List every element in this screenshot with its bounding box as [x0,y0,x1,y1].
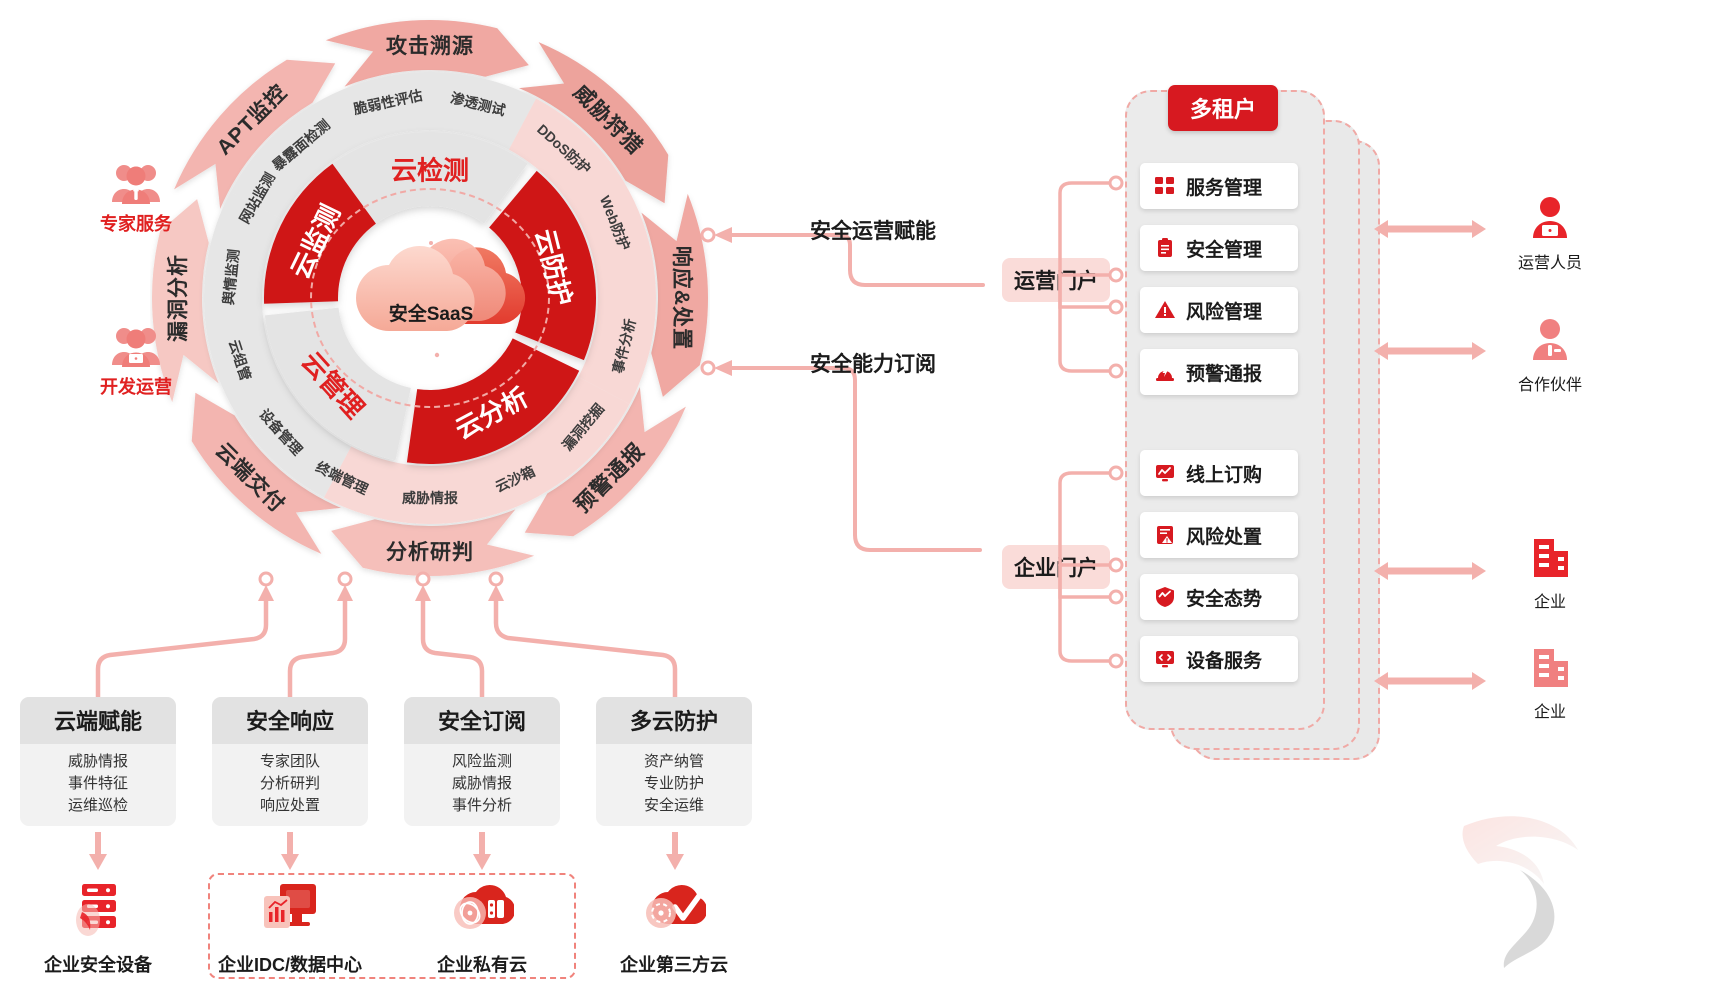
bottom-card-title: 多云防护 [596,697,752,744]
service-item-risk-mgmt[interactable]: 风险管理 [1140,287,1298,333]
grid-icon [1154,175,1176,197]
left-actor-devops: 开发运营 [76,325,196,399]
service-item-label: 预警通报 [1186,359,1262,386]
right-actor-label: 运营人员 [1495,249,1605,273]
arrow-partner [1372,340,1490,362]
cloud-center-label: 安全SaaS [331,299,531,326]
service-item-device-service[interactable]: 设备服务 [1140,636,1298,682]
service-item-label: 安全管理 [1186,235,1262,262]
endpoint-private-cloud: 企业私有云 [397,880,567,977]
arrow-enterprise-1 [1372,560,1490,582]
left-actor-expert: 专家服务 [76,162,196,236]
bottom-card-security-subscription: 安全订阅 风险监测 威胁情报 事件分析 [404,697,560,826]
endpoint-label: 企业第三方云 [589,951,759,977]
users-laptop-icon [76,325,196,369]
bottom-card-item: 安全运维 [596,795,752,817]
third-party-cloud-icon [642,880,706,942]
bottom-card-item: 运维巡检 [20,795,176,817]
bottom-card-item: 威胁情报 [404,773,560,795]
service-item-alert-notify[interactable]: 预警通报 [1140,349,1298,395]
bottom-card-item: 资产纳管 [596,751,752,773]
person-tie-icon [1526,318,1574,364]
bottom-card-item: 事件特征 [20,773,176,795]
enterprise-connector-tree [1048,455,1138,685]
endpoint-third-party-cloud: 企业第三方云 [589,880,759,977]
service-item-label: 设备服务 [1186,646,1262,673]
service-item-label: 线上订购 [1186,460,1262,487]
service-item-risk-handling[interactable]: 风险处置 [1140,512,1298,558]
bottom-card-multicloud-protection: 多云防护 资产纳管 专业防护 安全运维 [596,697,752,826]
bottom-card-title: 安全订阅 [404,697,560,744]
right-actor-label: 企业 [1495,588,1605,612]
bottom-card-item: 分析研判 [212,773,368,795]
right-actor-label: 企业 [1495,698,1605,722]
service-item-label: 安全态势 [1186,584,1262,611]
clipboard-icon [1154,237,1176,259]
cloud-center: 安全SaaS [331,213,531,383]
bottom-card-title: 云端赋能 [20,697,176,744]
right-actor-partner: 合作伙伴 [1495,318,1605,395]
arrow-enterprise-2 [1372,670,1490,692]
card-to-endpoint-arrows [0,832,780,872]
monitor-chart-icon [1154,462,1176,484]
endpoint-label: 企业IDC/数据中心 [205,951,375,977]
left-actor-label: 专家服务 [76,210,196,236]
bottom-card-cloud-enable: 云端赋能 威胁情报 事件特征 运维巡检 [20,697,176,826]
bottom-card-item: 专家团队 [212,751,368,773]
datacenter-monitor-icon [258,880,322,942]
capability-wheel: 安全SaaS APT监控攻击溯源威胁狩猎响应&处置预警通报分析研判云端交付漏洞分… [150,8,710,588]
service-item-label: 风险处置 [1186,522,1262,549]
tenant-badge: 多租户 [1168,85,1278,131]
shield-pulse-icon [1154,586,1176,608]
private-cloud-icon [450,880,514,942]
service-item-service-mgmt[interactable]: 服务管理 [1140,163,1298,209]
building-icon [1526,535,1574,581]
right-actor-label: 合作伙伴 [1495,371,1605,395]
person-laptop-icon [1526,196,1574,242]
right-actor-enterprise-2: 企业 [1495,645,1605,722]
bottom-card-item: 风险监测 [404,751,560,773]
arrow-ops-personnel [1372,218,1490,240]
endpoint-idc: 企业IDC/数据中心 [205,880,375,977]
server-icon [66,880,130,942]
building-icon [1526,645,1574,691]
left-actor-label: 开发运营 [76,373,196,399]
ops-connector-tree [1048,165,1138,395]
connector-label-ops: 安全运营赋能 [810,215,936,245]
endpoint-label: 企业安全设备 [13,951,183,977]
right-actor-enterprise-1: 企业 [1495,535,1605,612]
service-item-label: 服务管理 [1186,173,1262,200]
bottom-card-item: 响应处置 [212,795,368,817]
warning-triangle-icon [1154,299,1176,321]
service-item-security-posture[interactable]: 安全态势 [1140,574,1298,620]
document-alert-icon [1154,524,1176,546]
users-tie-icon [76,162,196,206]
bottom-card-item: 威胁情报 [20,751,176,773]
alarm-icon [1154,361,1176,383]
decorative-swoosh [1456,798,1586,978]
service-item-online-order[interactable]: 线上订购 [1140,450,1298,496]
bottom-card-item: 事件分析 [404,795,560,817]
service-item-label: 风险管理 [1186,297,1262,324]
service-item-security-mgmt[interactable]: 安全管理 [1140,225,1298,271]
bottom-card-item: 专业防护 [596,773,752,795]
endpoint-label: 企业私有云 [397,951,567,977]
right-actor-ops-personnel: 运营人员 [1495,196,1605,273]
endpoint-security-device: 企业安全设备 [13,880,183,977]
bottom-card-title: 安全响应 [212,697,368,744]
connector-label-sub: 安全能力订阅 [810,348,936,378]
code-monitor-icon [1154,648,1176,670]
bottom-card-security-response: 安全响应 专家团队 分析研判 响应处置 [212,697,368,826]
